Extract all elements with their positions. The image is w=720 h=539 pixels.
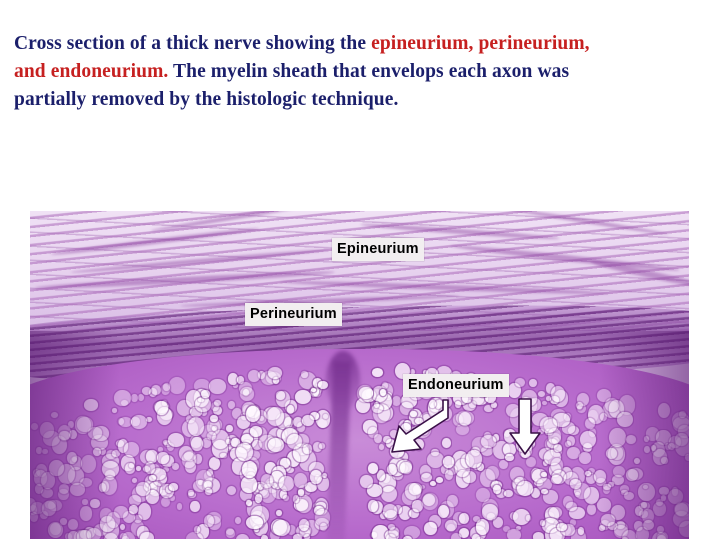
axon-profile [267,407,284,425]
axon-profile [323,414,328,419]
axon-profile [182,452,197,468]
axon-profile [140,532,153,539]
axon-profile [445,520,457,532]
axon-profile [196,470,212,489]
axon-profile [381,486,397,502]
axon-profile [386,534,396,539]
axon-profile [526,457,535,467]
axon-profile [493,485,501,494]
axon-profile [540,520,545,525]
axon-profile [526,515,531,520]
axon-profile [226,529,234,537]
axon-profile [102,461,119,477]
caption-line-2-text: The myelin sheath that envelops each axo… [168,61,569,82]
axon-profile [250,426,262,436]
axon-profile [205,488,211,495]
axon-profile [585,471,590,476]
axon-profile [380,389,386,396]
axon-profile [41,488,52,498]
axon-profile [565,441,571,447]
axon-profile [451,533,461,539]
axon-profile [210,415,217,422]
axon-profile [603,484,611,490]
axon-profile [214,400,221,407]
axon-profile [209,379,225,394]
axon-profile [685,454,689,461]
axon-profile [382,382,388,389]
axon-profile [276,391,286,400]
histology-micrograph: Epineurium Perineurium Endoneurium [30,211,689,539]
caption-line-1-text: Cross section of a thick nerve showing t… [14,33,371,54]
axon-profile [77,417,93,431]
axon-profile [617,412,632,427]
axon-profile [447,495,457,507]
axon-profile [383,504,397,517]
axon-profile [587,504,597,515]
axon-profile [579,452,590,464]
axon-profile [70,483,85,496]
axon-profile [551,386,565,402]
axon-profile [643,485,648,489]
axon-profile [320,523,327,531]
axon-profile [138,394,144,401]
axon-profile [201,390,210,399]
axon-profile [119,417,131,427]
caption-line-2: and endoneurium. The myelin sheath that … [14,58,714,86]
axon-profile [226,425,233,433]
axon-profile [493,517,503,528]
axon-profile [360,475,372,488]
axon-profile [533,532,544,539]
axon-profile [31,423,38,430]
axon-profile [246,500,252,507]
axon-profile [600,413,607,421]
axon-profile [279,476,295,491]
axon-profile [515,378,525,387]
caption-line-1: Cross section of a thick nerve showing t… [14,30,714,58]
axon-profile [368,500,378,511]
axon-profile [120,524,125,530]
axon-profile [303,444,312,453]
axon-profile [81,455,96,473]
axon-profile [209,457,220,470]
axon-profile [129,505,138,514]
caption-line-1-highlight: epineurium, perineurium, [371,33,590,54]
axon-profile [661,495,666,501]
axon-profile [455,401,462,408]
axon-profile [42,449,48,454]
axon-profile [129,463,134,468]
axon-profile [319,443,325,449]
axon-profile [472,534,480,539]
axon-profile [372,368,383,377]
axon-profile [131,394,138,401]
axon-profile [445,470,453,480]
axon-profile [549,507,562,518]
axon-profile [255,494,262,503]
axon-profile [679,411,685,418]
axon-profile [268,438,284,452]
axon-profile [122,532,135,539]
axon-profile [261,535,267,539]
axon-profile [146,450,157,463]
axon-profile [606,448,617,459]
axon-profile [424,522,437,536]
axon-profile [405,483,421,499]
axon-profile [482,504,498,520]
caption-line-2-highlight: and endoneurium. [14,61,168,82]
axon-profile [82,499,88,504]
axon-profile [486,466,499,480]
axon-profile [240,387,254,400]
axon-profile [246,516,263,530]
axon-profile [169,377,185,394]
axon-profile [112,408,117,413]
axon-profile [585,418,595,429]
axon-profile [597,498,611,511]
axon-profile [580,431,596,448]
axon-profile [169,483,178,490]
axon-profile [136,482,150,496]
axon-profile [298,489,305,495]
axon-profile [634,458,640,464]
axon-profile [294,473,307,488]
axon-profile [87,528,102,539]
axon-profile [643,520,654,530]
axon-profile [188,490,193,497]
axon-profile [236,443,253,461]
axon-profile [142,387,151,394]
axon-profile [459,513,469,524]
axon-profile [90,499,99,508]
label-epineurium: Epineurium [332,238,424,261]
axon-profile [220,453,227,459]
axon-profile [204,515,214,527]
axon-profile [554,444,563,452]
axon-profile [194,526,200,533]
axon-profile [268,367,282,379]
axon-profile [422,493,438,510]
caption-line-3: partially removed by the histologic tech… [14,86,714,114]
axon-profile [157,452,168,463]
axon-profile [576,402,583,409]
axon-profile [236,534,249,539]
axon-profile [594,470,606,483]
axon-profile [114,390,131,405]
axon-profile [476,519,489,534]
axon-profile [322,473,327,478]
interfascicular-septum [326,351,360,411]
axon-profile [129,495,142,506]
axon-profile [473,516,480,522]
axon-profile [657,526,664,533]
axon-profile [481,435,496,448]
axon-profile [287,405,294,414]
axon-profile [374,434,382,443]
label-perineurium: Perineurium [245,303,342,326]
axon-profile [158,447,163,451]
axon-profile [301,371,308,377]
axon-profile [456,411,473,425]
axon-profile [227,486,236,495]
axon-profile [311,388,316,392]
axon-profile [443,456,454,468]
axon-profile [207,432,216,440]
axon-profile [146,417,152,422]
axon-profile [613,466,625,477]
axon-profile [80,506,92,520]
axon-profile [136,466,141,470]
axon-profile [102,476,117,495]
axon-profile [626,435,636,444]
axon-profile [42,501,56,515]
axon-profile [145,462,154,474]
axon-profile [248,370,260,382]
axon-profile [675,433,688,445]
axon-profile [609,428,626,447]
axon-profile [40,422,54,437]
axon-profile [241,476,257,492]
axon-profile [124,442,140,457]
axon-profile [644,446,650,453]
axon-profile [51,412,58,418]
axon-profile [195,397,210,412]
axon-profile [657,535,665,539]
axon-profile [190,501,199,513]
axon-profile [567,447,580,460]
axon-profile [368,463,379,474]
axon-profile [515,477,523,485]
axon-profile [273,520,290,536]
axon-profile [675,503,689,516]
axon-profile [246,406,260,422]
axon-profile [132,478,137,483]
axon-profile [163,383,170,391]
arrow-to-endoneurium-right [508,397,542,457]
axon-profile [155,401,168,415]
axon-profile [641,502,647,507]
axon-profile [507,529,521,539]
axon-profile [601,514,615,526]
axon-profile [168,433,184,447]
arrow-to-endoneurium-left [388,396,452,456]
axon-profile [67,452,77,464]
axon-profile [177,503,182,510]
axon-profile [188,417,204,436]
axon-profile [107,512,120,528]
axon-profile [436,477,443,483]
axon-profile [287,434,302,449]
axon-profile [400,462,412,475]
axon-profile [570,479,581,489]
axon-profile [59,431,69,441]
axon-profile [186,532,203,539]
figure-caption: Cross section of a thick nerve showing t… [14,30,714,114]
axon-profile [276,510,282,517]
axon-profile [93,448,101,456]
axon-profile [668,489,683,504]
axon-profile [626,469,638,481]
axon-profile [566,502,577,511]
axon-profile [661,457,669,464]
label-endoneurium: Endoneurium [403,374,509,397]
axon-profile [540,417,557,433]
